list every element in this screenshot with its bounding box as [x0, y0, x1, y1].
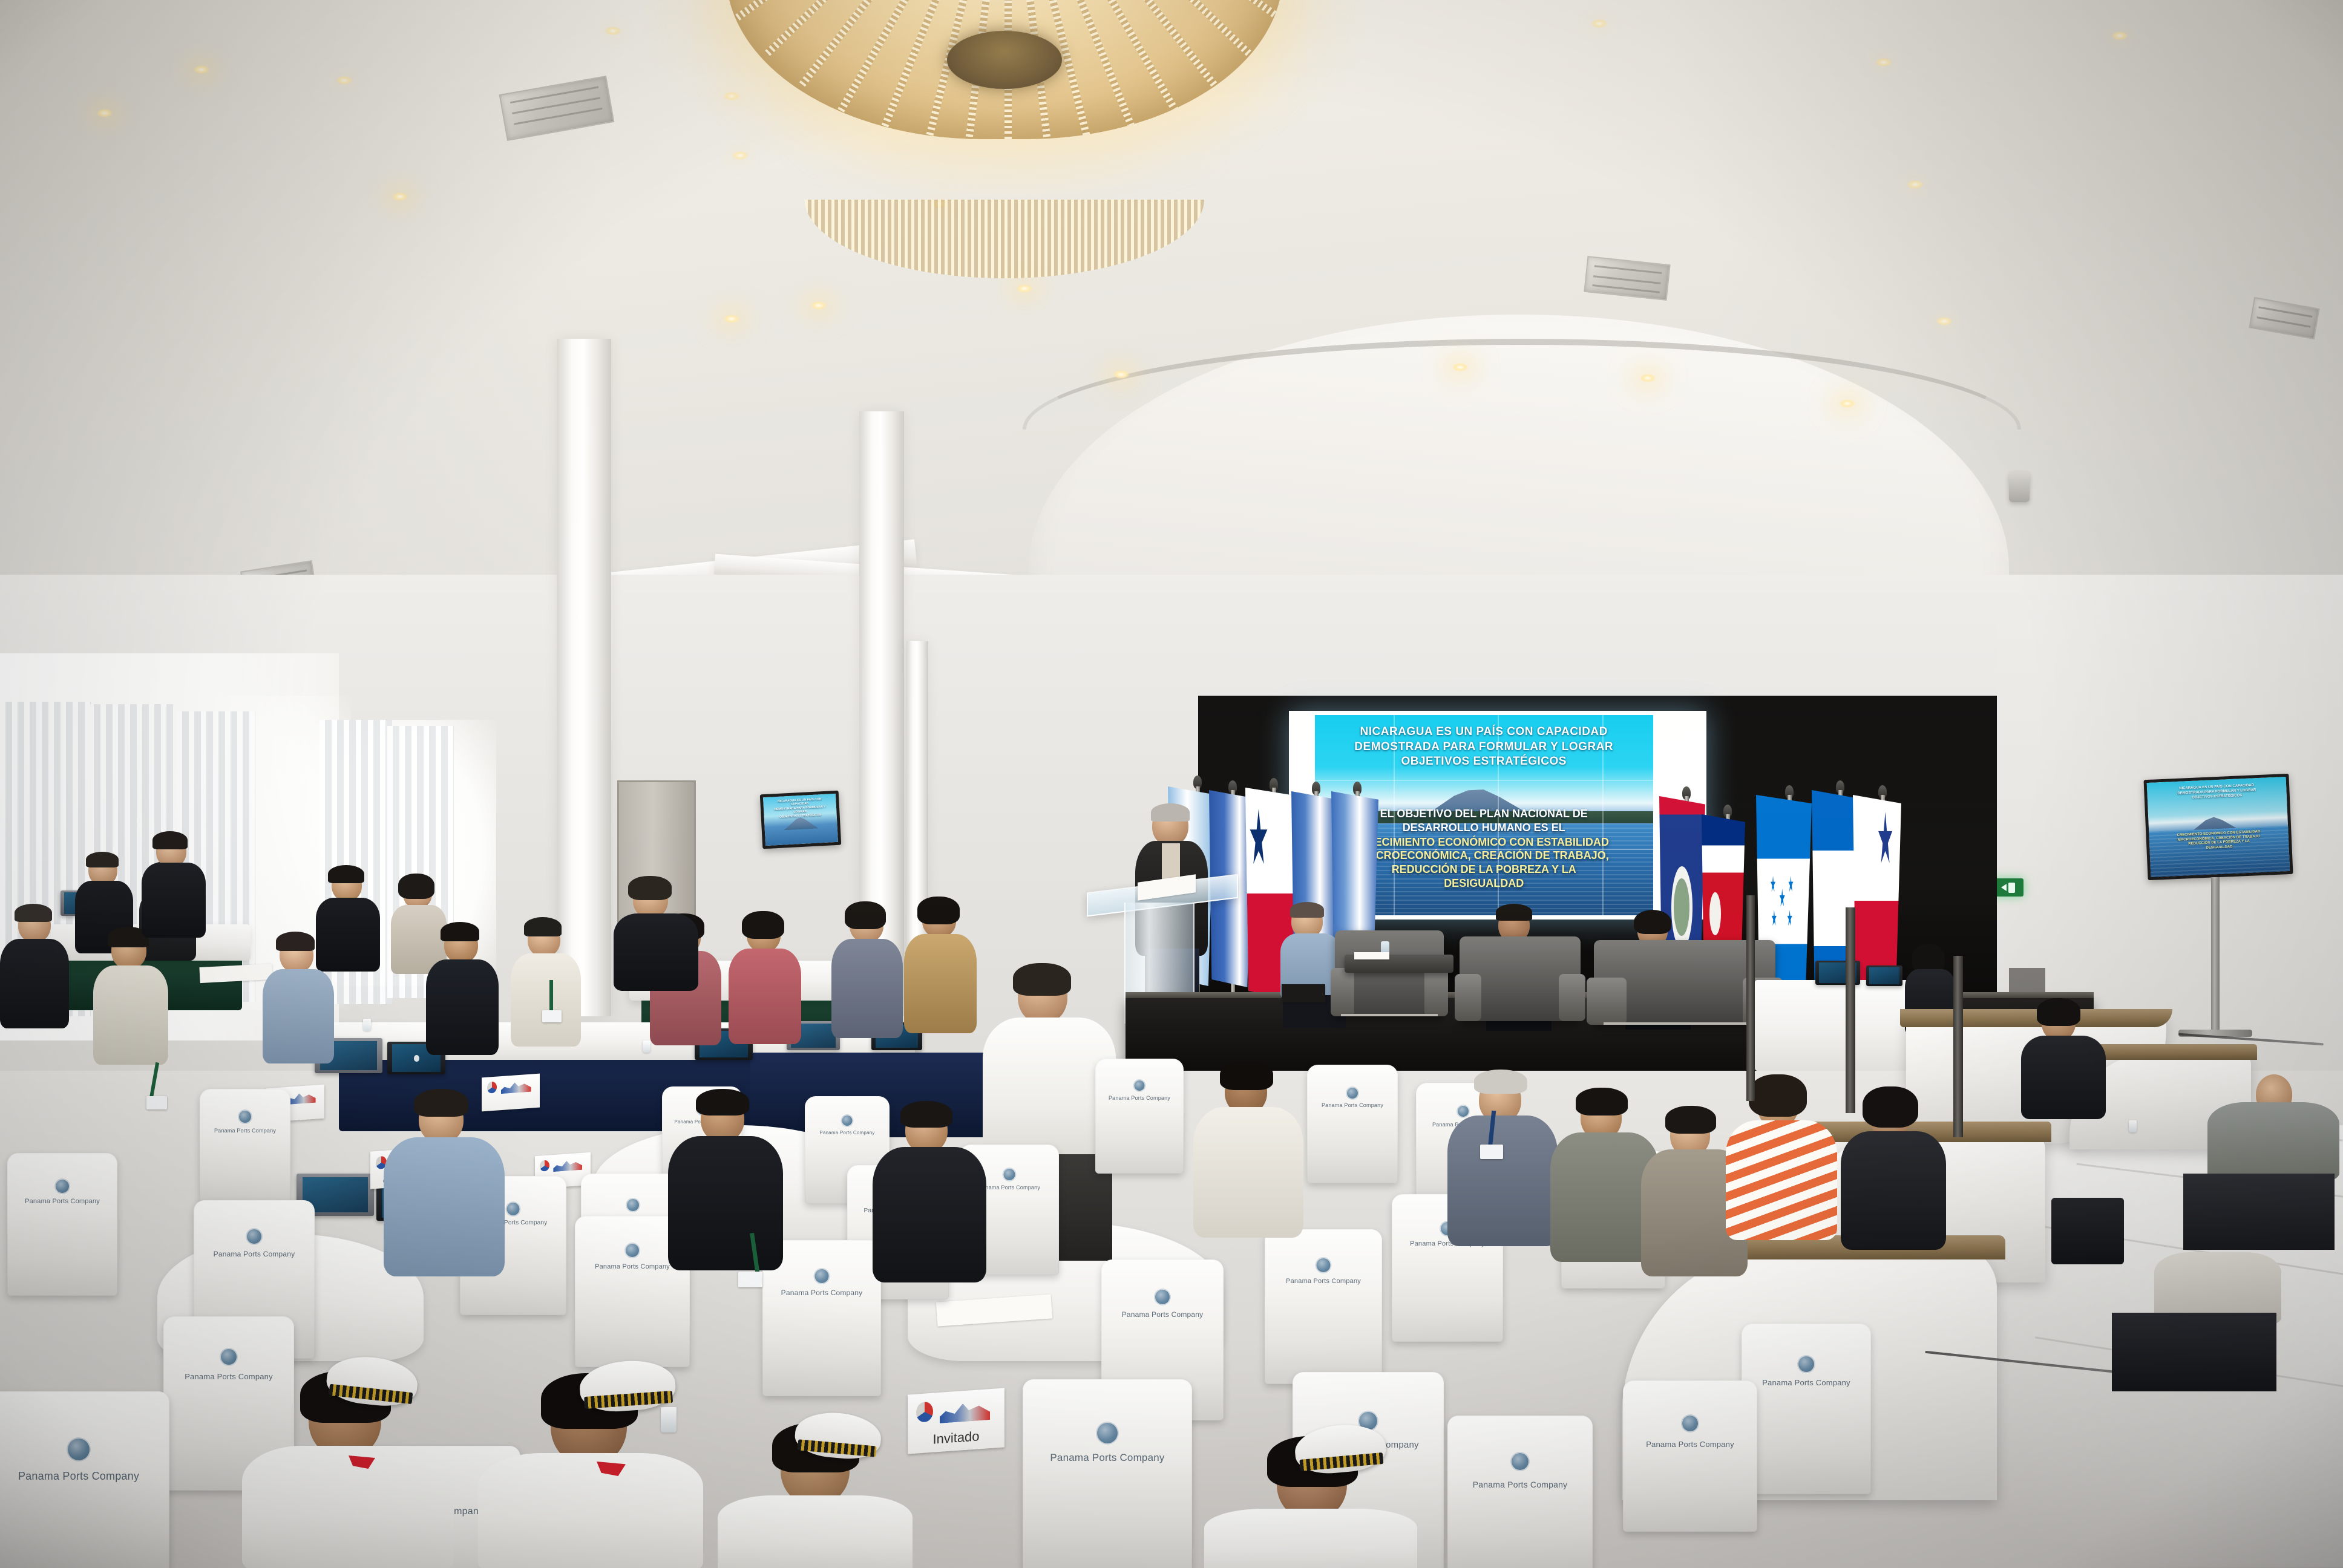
attendee-fg-4: [1192, 1068, 1307, 1238]
armchair-1-legs: [1341, 1014, 1438, 1016]
attendee-bending-left-jacket: [614, 913, 698, 991]
naval-officer-4-cap: [1293, 1422, 1388, 1477]
chair-front-5[interactable]: Panama Ports Company: [1447, 1416, 1593, 1568]
chair-front-1-brand: Panama Ports Company: [18, 1470, 139, 1483]
exit-running-man-icon: [2008, 883, 2015, 893]
chandelier-hub: [947, 31, 1062, 89]
chair-r3-3-brand: Panama Ports Company: [781, 1289, 863, 1297]
attendee-ml-9-hair: [917, 897, 960, 924]
attendee-ml-7-top: [729, 949, 801, 1044]
attendee-fg-2-jacket: [668, 1136, 783, 1270]
naval-officer-2: [478, 1365, 708, 1568]
attendee-fg-5-shirt: [1447, 1116, 1558, 1246]
ceiling-speaker-2: [2009, 472, 2030, 502]
naval-officer-3: [718, 1416, 917, 1568]
stage-sofa-legs: [1604, 1022, 1771, 1025]
conference-hall-photo: NICARAGUA ES UN PAÍS CON CAPACIDAD DEMOS…: [0, 0, 2343, 1568]
chair-r3-5-brand: Panama Ports Company: [1286, 1278, 1361, 1285]
chair-r2-8-brand: Panama Ports Company: [1322, 1102, 1383, 1108]
attendee-bl-3-hair: [328, 865, 364, 883]
attendee-ml-1-jacket: [0, 939, 69, 1028]
chair-front-5-brand: Panama Ports Company: [1473, 1480, 1568, 1489]
attendee-right-bench-2-trousers: [2112, 1313, 2276, 1391]
exit-arrow-left-icon: [2001, 884, 2007, 891]
chair-front-3-brand: Panama Ports Company: [1050, 1452, 1164, 1464]
armchair-1-arm-left: [1331, 968, 1355, 1016]
standing-attendee-hair: [1013, 963, 1071, 996]
downlight-4: [392, 192, 408, 201]
attendee-ml-7-hair: [742, 911, 784, 939]
armchair-2-arm-right: [1559, 974, 1585, 1021]
attendee-ml-9-top: [904, 934, 977, 1033]
stanchion-pole-3: [1746, 895, 1755, 1101]
table-card-invitado-1: Invitado: [908, 1388, 1004, 1454]
attendee-fg-2: [666, 1095, 787, 1270]
attendee-bl-4-hair: [398, 874, 434, 899]
attendee-fg-7-hair: [1665, 1106, 1716, 1134]
badge-1: [146, 1096, 167, 1109]
attendee-fg-5-hair: [1474, 1070, 1527, 1094]
downlight-12: [2112, 31, 2128, 40]
downlight-7: [724, 315, 739, 323]
attendee-fg-chevron-dress: [1725, 1083, 1840, 1240]
attendee-fg-2-hair: [696, 1089, 749, 1116]
attendee-ml-2-shirt: [93, 965, 168, 1065]
attendee-ml-7: [726, 917, 805, 1044]
attendee-ml-5-shirt: [511, 953, 581, 1047]
attendee-fg-3-jacket: [873, 1147, 986, 1282]
attendee-fg-1: [381, 1095, 508, 1276]
chair-r3-2-brand: Panama Ports Company: [595, 1263, 670, 1270]
attendee-ml-8-top: [831, 939, 903, 1038]
slide-title-line-3: OBJETIVOS ESTRATÉGICOS: [1335, 754, 1633, 769]
downlight-15: [1113, 370, 1129, 379]
panelist-3-hair: [1634, 910, 1671, 934]
attendee-ml-8: [829, 907, 906, 1038]
naval-officer-3-uniform: [718, 1495, 913, 1568]
attendee-window-pair-1: [138, 835, 211, 938]
column-1: [557, 339, 611, 1016]
attendee-fg-3: [871, 1107, 990, 1282]
water-glass-1: [363, 1019, 371, 1031]
attendee-ml-3: [260, 936, 338, 1063]
speaker-shirt: [1162, 843, 1180, 881]
naval-officer-2-cap: [578, 1358, 677, 1414]
table-card-invitado-1-label: Invitado: [908, 1427, 1004, 1449]
slide-title: NICARAGUA ES UN PAÍS CON CAPACIDAD DEMOS…: [1335, 725, 1633, 769]
water-glass-4: [2129, 1120, 2137, 1132]
attendee-right-bench-2: [2106, 1246, 2287, 1391]
lanyard-4: [549, 980, 553, 1013]
downlight-2: [194, 65, 209, 74]
naval-officer-2-uniform: [478, 1453, 703, 1568]
chair-r3-5[interactable]: Panama Ports Company: [1265, 1229, 1382, 1384]
attendee-bending-left-hair: [628, 876, 672, 900]
naval-officer-4: [1204, 1430, 1422, 1568]
attendee-ml-9: [902, 903, 980, 1033]
attendee-ml-5-hair: [524, 917, 562, 936]
attendee-ml-4: [424, 927, 502, 1055]
attendee-bl-1-hair: [86, 852, 119, 867]
attendee-fg-6-hair: [1576, 1088, 1628, 1116]
attendee-right-bench-3-hair: [2037, 998, 2080, 1026]
chair-r2-7[interactable]: Panama Ports Company: [1095, 1059, 1184, 1174]
naval-officer-4-uniform: [1204, 1509, 1417, 1568]
tech-operator-hair: [1912, 944, 1945, 973]
attendee-ml-3-hair: [276, 932, 315, 951]
downlight-13: [1936, 317, 1952, 325]
attendee-ml-5: [508, 922, 585, 1047]
chair-r2-8[interactable]: Panama Ports Company: [1307, 1065, 1398, 1183]
attendee-fg-4-hair: [1220, 1061, 1273, 1090]
attendee-right-bench-1-trousers: [2183, 1174, 2335, 1250]
monitor-right-repeater: NICARAGUA ES UN PAÍS CON CAPACIDAD DEMOS…: [2143, 774, 2293, 880]
attendee-fg-1-hair: [414, 1089, 468, 1117]
attendee-right-bench-1-shirt: [2207, 1102, 2339, 1181]
chair-r1-1-brand: Panama Ports Company: [214, 1128, 276, 1134]
chair-front-6[interactable]: Panama Ports Company: [1623, 1380, 1757, 1532]
attendee-fg-3-hair: [900, 1101, 952, 1128]
stanchion-pole-1: [1846, 907, 1855, 1113]
attendee-right-bench-3-top: [2021, 1036, 2106, 1119]
panelist-1-hair: [1290, 902, 1324, 918]
tech-laptop-2: [1866, 965, 1902, 986]
downlight-1: [97, 109, 113, 117]
chair-r1-3-brand: Panama Ports Company: [819, 1130, 874, 1135]
badge-3: [1480, 1145, 1503, 1159]
stanchion-pole-2: [1953, 956, 1963, 1137]
downlight-17: [1640, 374, 1656, 382]
chandelier: [641, 0, 1368, 254]
attendee-ml-4-jacket: [426, 959, 499, 1055]
attendee-right-bench-1: [2171, 1074, 2341, 1250]
stage-armchair-2: [1460, 936, 1581, 1021]
armchair-2-arm-left: [1455, 974, 1481, 1021]
attendee-right-bench-3: [2015, 1004, 2112, 1119]
naval-officer-1-uniform: [242, 1446, 454, 1568]
sofa-arm-left: [1587, 978, 1627, 1025]
downlight-3: [336, 76, 352, 85]
panelist-1-notebook: [1282, 984, 1325, 1002]
chair-front-1[interactable]: Panama Ports Company: [0, 1391, 169, 1568]
monitor-left-wall: NICARAGUA ES UN PAÍS CON CAPACIDAD DEMOS…: [760, 791, 842, 849]
attendee-fg-5: [1446, 1077, 1561, 1246]
armchair-1-arm-right: [1424, 968, 1449, 1016]
chair-r1-1[interactable]: Panama Ports Company: [200, 1089, 290, 1204]
chair-r3-8-brand: Panama Ports Company: [1762, 1378, 1850, 1387]
panelist-2-hair: [1496, 904, 1532, 921]
downlight-8: [811, 301, 827, 310]
downlight-9: [1591, 19, 1607, 28]
naval-officer-1: [242, 1355, 460, 1568]
stage-papers: [1354, 952, 1389, 959]
attendee-ml-1-hair: [15, 904, 52, 922]
attendee-fg-8: [1840, 1095, 1947, 1250]
attendee-bending-left: [609, 881, 706, 990]
chair-r2-1-brand: Panama Ports Company: [25, 1198, 100, 1205]
badge-2: [738, 1272, 762, 1287]
attendee-ml-8-hair: [845, 901, 886, 929]
chair-r3-8[interactable]: Panama Ports Company: [1742, 1324, 1871, 1494]
downlight-18: [1840, 399, 1855, 408]
slide-title-line-2: DEMOSTRADA PARA FORMULAR Y LOGRAR: [1335, 740, 1633, 754]
attendee-window-pair-1-top: [142, 863, 206, 938]
attendee-fg-8-hair: [1863, 1086, 1918, 1128]
attendee-chevron-hair: [1749, 1074, 1807, 1117]
attendee-chevron-dress: [1726, 1120, 1837, 1240]
downlight-10: [1876, 58, 1892, 67]
monitor-right-stand: [2211, 877, 2220, 1034]
speaker-hair: [1151, 803, 1190, 822]
attendee-ml-4-hair: [441, 922, 479, 941]
downlight-11: [1907, 180, 1923, 189]
attendee-fg-8-top: [1841, 1131, 1946, 1250]
chair-r2-7-brand: Panama Ports Company: [1109, 1095, 1170, 1101]
attendee-window-pair-1-hair: [152, 831, 188, 849]
chair-front-6-brand: Panama Ports Company: [1646, 1440, 1734, 1449]
downlight-14: [1017, 284, 1032, 293]
attendee-ml-2: [91, 932, 172, 1065]
downlight-16: [1452, 363, 1468, 371]
downlight-5: [605, 27, 621, 35]
chair-r2-2-brand: Panama Ports Company: [214, 1250, 295, 1258]
chair-front-3[interactable]: Panama Ports Company: [1023, 1379, 1192, 1568]
attendee-fg-1-shirt: [384, 1137, 505, 1276]
chair-r3-4-brand: Panama Ports Company: [1122, 1310, 1204, 1319]
stage-armchair-1: [1335, 930, 1444, 1016]
attendee-ml-1: [0, 907, 73, 1028]
attendee-fg-4-shirt: [1193, 1107, 1303, 1238]
chair-r2-1[interactable]: Panama Ports Company: [7, 1153, 117, 1296]
attendee-ml-3-shirt: [263, 969, 334, 1063]
slide-title-line-1: NICARAGUA ES UN PAÍS CON CAPACIDAD: [1335, 725, 1633, 739]
badge-4: [542, 1010, 562, 1022]
